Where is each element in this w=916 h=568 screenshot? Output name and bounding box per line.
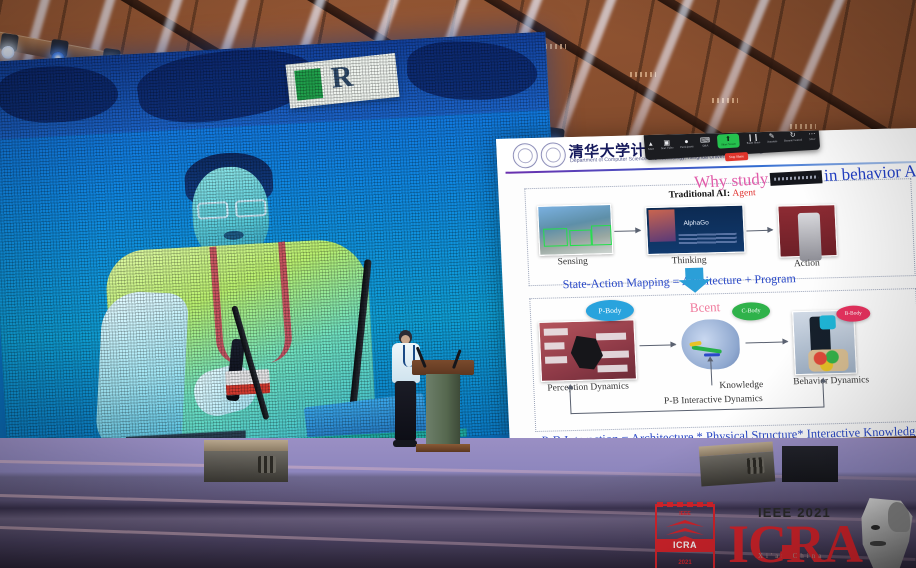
ceiling-vent	[712, 98, 738, 103]
stage-monitor-left	[204, 440, 288, 482]
speaker-arm	[95, 290, 189, 454]
speaker-lanyard	[209, 241, 293, 366]
university-seal-icon	[512, 143, 538, 169]
ceiling-vent	[630, 72, 656, 77]
stage-edge-line	[0, 460, 916, 481]
slide-title-before: Why study	[694, 169, 769, 192]
thinking-label: Thinking	[672, 256, 707, 267]
sensing-label: Sensing	[557, 257, 588, 268]
led-sign-letter: R	[329, 60, 354, 96]
thinking-thumbnail: AlphaGo	[645, 205, 745, 256]
action-label: Action	[794, 259, 820, 270]
stage-monitor-right-second	[782, 446, 838, 482]
perception-dynamics-thumbnail	[538, 319, 637, 381]
zoom-share-screen-button[interactable]: ⬆Share Screen	[716, 133, 740, 149]
stage-monitor-right	[699, 441, 776, 486]
badge-ieee-label: IEEE	[657, 511, 713, 517]
ceiling-vent	[790, 124, 816, 129]
sensing-thumbnail	[537, 204, 613, 256]
zoom-annotate-button[interactable]: ✎Annotate	[766, 133, 777, 144]
zoom-remote-control-button[interactable]: ↻Remote Control	[783, 131, 802, 143]
bcent-label: Bcent	[690, 299, 721, 316]
projection-screen: 清华大学计算机科学与技术系 Department of Computer Sci…	[496, 128, 916, 447]
zoom-pause-share-button[interactable]: ❙❙Pause Share	[746, 134, 760, 146]
led-video-wall: R	[0, 32, 567, 462]
department-seal-icon	[540, 142, 566, 168]
zoom-stop-share-button[interactable]: Stop Share	[725, 152, 748, 161]
zoom-start-video-button[interactable]: ▣Start Video	[660, 139, 673, 151]
xian-seal-icon	[782, 545, 793, 559]
icra-badge-logo: IEEE ICRA 2021	[655, 504, 715, 568]
speaker-name-badge	[225, 369, 270, 395]
zoom-more-button[interactable]: ⋯More	[808, 130, 816, 141]
zoom-mute-button[interactable]: ▴Mute	[648, 140, 655, 151]
speaker-glasses	[197, 199, 264, 216]
conference-stage-photo: R 清华大学计算机科学与技术系 Department of Computer S…	[0, 0, 916, 568]
action-thumbnail	[777, 204, 837, 257]
zoom-participants-button[interactable]: ●Participants	[680, 138, 694, 150]
redaction-bar	[770, 170, 823, 186]
lectern	[412, 360, 474, 452]
alphago-caption: AlphaGo	[683, 219, 709, 227]
zoom-qa-button[interactable]: ⌨Q&A	[700, 137, 711, 148]
badge-icra-label: ICRA	[657, 539, 713, 552]
badge-year-label: 2021	[657, 560, 713, 566]
